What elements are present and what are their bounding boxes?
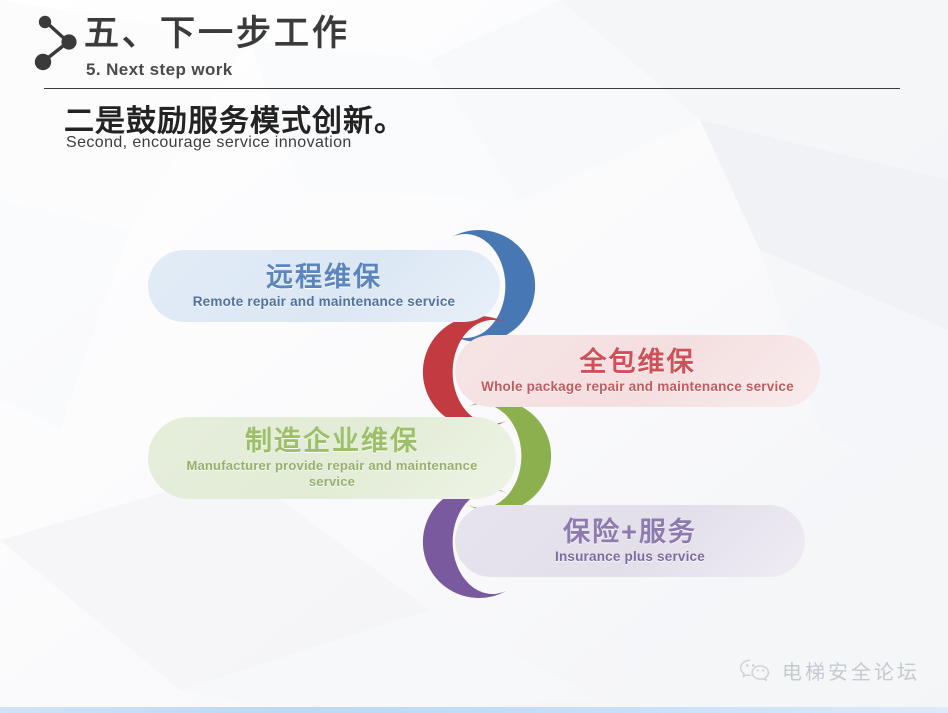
capsule-whole-package-service[interactable]: 全包维保 Whole package repair and maintenanc… [455, 335, 820, 407]
service-model-diagram: 远程维保 Remote repair and maintenance servi… [0, 195, 948, 615]
capsule-whole-package-title-en: Whole package repair and maintenance ser… [481, 379, 794, 396]
capsule-insurance-title-en: Insurance plus service [555, 549, 705, 566]
capsule-insurance-service[interactable]: 保险+服务 Insurance plus service [455, 505, 805, 577]
page-title-cn: 五、下一步工作 [84, 16, 350, 51]
slide-header: 五、下一步工作 5. Next step work [0, 0, 948, 95]
capsule-remote-title-en: Remote repair and maintenance service [193, 294, 456, 311]
page-title-en: 5. Next step work [86, 60, 233, 80]
subheading-en: Second, encourage service innovation [66, 134, 352, 152]
capsule-whole-package-title-cn: 全包维保 [580, 347, 696, 378]
capsule-manufacturer-title-en: Manufacturer provide repair and maintena… [182, 458, 482, 491]
capsule-manufacturer-service[interactable]: 制造企业维保 Manufacturer provide repair and m… [148, 417, 516, 499]
capsule-manufacturer-title-cn: 制造企业维保 [245, 426, 419, 457]
watermark: 电梯安全论坛 [738, 656, 920, 685]
wechat-icon [738, 657, 772, 685]
capsule-remote-title-cn: 远程维保 [266, 262, 382, 293]
slide-canvas: 五、下一步工作 5. Next step work 二是鼓励服务模式创新。 Se… [0, 0, 948, 713]
bottom-accent-strip [0, 707, 948, 713]
watermark-text: 电梯安全论坛 [782, 656, 920, 685]
capsule-remote-service[interactable]: 远程维保 Remote repair and maintenance servi… [148, 250, 500, 322]
header-divider [44, 88, 900, 89]
network-node-icon [28, 12, 90, 74]
capsule-insurance-title-cn: 保险+服务 [563, 517, 697, 548]
